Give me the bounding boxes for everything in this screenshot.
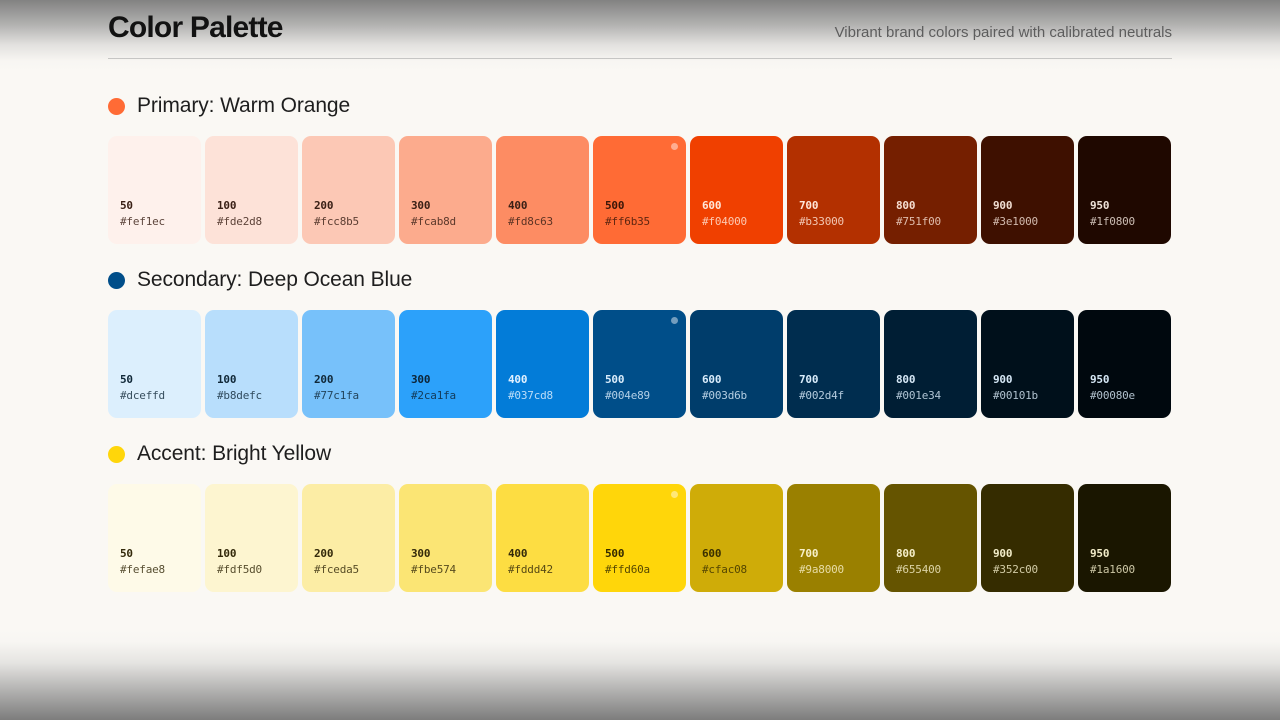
swatch-primary-950[interactable]: 950#1f0800 — [1078, 136, 1171, 244]
base-color-marker-icon — [671, 317, 678, 324]
swatch-accent-700[interactable]: 700#9a8000 — [787, 484, 880, 592]
swatch-hex-value: #cfac08 — [702, 562, 783, 578]
swatch-hex-value: #f04000 — [702, 214, 783, 230]
swatch-accent-200[interactable]: 200#fceda5 — [302, 484, 395, 592]
swatch-secondary-200[interactable]: 200#77c1fa — [302, 310, 395, 418]
swatch-hex-value: #2ca1fa — [411, 388, 492, 404]
group-header-secondary: Secondary: Deep Ocean Blue — [108, 266, 1172, 294]
swatch-step-label: 50 — [120, 198, 201, 214]
swatch-secondary-900[interactable]: 900#00101b — [981, 310, 1074, 418]
swatch-hex-value: #dceffd — [120, 388, 201, 404]
swatch-secondary-600[interactable]: 600#003d6b — [690, 310, 783, 418]
group-title: Accent: Bright Yellow — [137, 442, 331, 466]
swatch-hex-value: #b33000 — [799, 214, 880, 230]
swatch-step-label: 200 — [314, 198, 395, 214]
swatch-step-label: 600 — [702, 372, 783, 388]
color-dot-icon — [108, 272, 125, 289]
color-palette-page: Primary: Warm Orange50#fef1ec100#fde2d82… — [0, 0, 1280, 720]
swatch-step-label: 500 — [605, 546, 686, 562]
swatch-accent-900[interactable]: 900#352c00 — [981, 484, 1074, 592]
swatch-hex-value: #fcab8d — [411, 214, 492, 230]
swatch-hex-value: #001e34 — [896, 388, 977, 404]
page-subtitle: Vibrant brand colors paired with calibra… — [835, 24, 1172, 41]
swatch-hex-value: #fefae8 — [120, 562, 201, 578]
base-color-marker-icon — [671, 491, 678, 498]
page-title: Color Palette — [108, 13, 283, 43]
swatch-hex-value: #fde2d8 — [217, 214, 298, 230]
swatch-hex-value: #fd8c63 — [508, 214, 589, 230]
swatch-step-label: 700 — [799, 198, 880, 214]
palette-group-secondary: Secondary: Deep Ocean Blue50#dceffd100#b… — [108, 266, 1172, 418]
group-header-accent: Accent: Bright Yellow — [108, 440, 1172, 468]
swatch-hex-value: #ff6b35 — [605, 214, 686, 230]
swatch-secondary-700[interactable]: 700#002d4f — [787, 310, 880, 418]
swatch-hex-value: #fdf5d0 — [217, 562, 298, 578]
swatch-step-label: 700 — [799, 546, 880, 562]
swatch-hex-value: #751f00 — [896, 214, 977, 230]
swatch-hex-value: #77c1fa — [314, 388, 395, 404]
swatch-step-label: 900 — [993, 372, 1074, 388]
swatch-hex-value: #004e89 — [605, 388, 686, 404]
group-title: Primary: Warm Orange — [137, 94, 350, 118]
swatch-step-label: 600 — [702, 198, 783, 214]
swatch-hex-value: #003d6b — [702, 388, 783, 404]
swatch-hex-value: #b8defc — [217, 388, 298, 404]
swatch-primary-200[interactable]: 200#fcc8b5 — [302, 136, 395, 244]
swatch-hex-value: #fceda5 — [314, 562, 395, 578]
swatch-step-label: 800 — [896, 546, 977, 562]
swatch-accent-400[interactable]: 400#fddd42 — [496, 484, 589, 592]
swatch-accent-300[interactable]: 300#fbe574 — [399, 484, 492, 592]
swatch-step-label: 100 — [217, 198, 298, 214]
swatch-step-label: 200 — [314, 546, 395, 562]
swatch-secondary-800[interactable]: 800#001e34 — [884, 310, 977, 418]
swatch-step-label: 600 — [702, 546, 783, 562]
swatch-step-label: 400 — [508, 198, 589, 214]
swatch-hex-value: #fcc8b5 — [314, 214, 395, 230]
swatch-step-label: 500 — [605, 372, 686, 388]
swatch-hex-value: #fef1ec — [120, 214, 201, 230]
swatch-step-label: 300 — [411, 546, 492, 562]
swatch-primary-600[interactable]: 600#f04000 — [690, 136, 783, 244]
palette-group-accent: Accent: Bright Yellow50#fefae8100#fdf5d0… — [108, 440, 1172, 592]
swatch-step-label: 950 — [1090, 198, 1171, 214]
color-dot-icon — [108, 98, 125, 115]
swatch-step-label: 800 — [896, 198, 977, 214]
swatch-step-label: 100 — [217, 546, 298, 562]
swatch-hex-value: #9a8000 — [799, 562, 880, 578]
base-color-marker-icon — [671, 143, 678, 150]
swatch-hex-value: #1f0800 — [1090, 214, 1171, 230]
swatch-hex-value: #ffd60a — [605, 562, 686, 578]
swatch-primary-900[interactable]: 900#3e1000 — [981, 136, 1074, 244]
swatch-primary-500[interactable]: 500#ff6b35 — [593, 136, 686, 244]
swatch-primary-50[interactable]: 50#fef1ec — [108, 136, 201, 244]
swatch-hex-value: #352c00 — [993, 562, 1074, 578]
bottom-gradient-overlay — [0, 628, 1280, 720]
group-title: Secondary: Deep Ocean Blue — [137, 268, 412, 292]
swatch-step-label: 500 — [605, 198, 686, 214]
swatch-step-label: 950 — [1090, 546, 1171, 562]
swatch-step-label: 50 — [120, 372, 201, 388]
swatch-secondary-50[interactable]: 50#dceffd — [108, 310, 201, 418]
swatch-step-label: 900 — [993, 546, 1074, 562]
swatch-step-label: 400 — [508, 372, 589, 388]
swatch-hex-value: #fddd42 — [508, 562, 589, 578]
swatch-hex-value: #037cd8 — [508, 388, 589, 404]
swatch-hex-value: #00101b — [993, 388, 1074, 404]
group-header-primary: Primary: Warm Orange — [108, 92, 1172, 120]
swatch-accent-800[interactable]: 800#655400 — [884, 484, 977, 592]
swatch-row-primary: 50#fef1ec100#fde2d8200#fcc8b5300#fcab8d4… — [108, 136, 1172, 244]
swatch-secondary-100[interactable]: 100#b8defc — [205, 310, 298, 418]
palette-content: Primary: Warm Orange50#fef1ec100#fde2d82… — [0, 0, 1280, 614]
swatch-primary-100[interactable]: 100#fde2d8 — [205, 136, 298, 244]
swatch-step-label: 800 — [896, 372, 977, 388]
swatch-step-label: 700 — [799, 372, 880, 388]
swatch-secondary-950[interactable]: 950#00080e — [1078, 310, 1171, 418]
swatch-hex-value: #1a1600 — [1090, 562, 1171, 578]
swatch-row-secondary: 50#dceffd100#b8defc200#77c1fa300#2ca1fa4… — [108, 310, 1172, 418]
swatch-step-label: 900 — [993, 198, 1074, 214]
swatch-secondary-300[interactable]: 300#2ca1fa — [399, 310, 492, 418]
page-header: Color Palette Vibrant brand colors paire… — [0, 0, 1280, 62]
swatch-step-label: 100 — [217, 372, 298, 388]
swatch-secondary-500[interactable]: 500#004e89 — [593, 310, 686, 418]
swatch-accent-600[interactable]: 600#cfac08 — [690, 484, 783, 592]
swatch-step-label: 400 — [508, 546, 589, 562]
swatch-accent-950[interactable]: 950#1a1600 — [1078, 484, 1171, 592]
swatch-row-accent: 50#fefae8100#fdf5d0200#fceda5300#fbe5744… — [108, 484, 1172, 592]
swatch-step-label: 950 — [1090, 372, 1171, 388]
swatch-hex-value: #fbe574 — [411, 562, 492, 578]
swatch-accent-50[interactable]: 50#fefae8 — [108, 484, 201, 592]
swatch-step-label: 50 — [120, 546, 201, 562]
swatch-accent-500[interactable]: 500#ffd60a — [593, 484, 686, 592]
swatch-primary-700[interactable]: 700#b33000 — [787, 136, 880, 244]
swatch-hex-value: #655400 — [896, 562, 977, 578]
swatch-primary-800[interactable]: 800#751f00 — [884, 136, 977, 244]
swatch-step-label: 300 — [411, 198, 492, 214]
color-dot-icon — [108, 446, 125, 463]
swatch-hex-value: #002d4f — [799, 388, 880, 404]
swatch-primary-300[interactable]: 300#fcab8d — [399, 136, 492, 244]
swatch-step-label: 200 — [314, 372, 395, 388]
swatch-accent-100[interactable]: 100#fdf5d0 — [205, 484, 298, 592]
swatch-hex-value: #3e1000 — [993, 214, 1074, 230]
header-divider — [108, 58, 1172, 59]
swatch-primary-400[interactable]: 400#fd8c63 — [496, 136, 589, 244]
swatch-hex-value: #00080e — [1090, 388, 1171, 404]
palette-group-primary: Primary: Warm Orange50#fef1ec100#fde2d82… — [108, 92, 1172, 244]
swatch-step-label: 300 — [411, 372, 492, 388]
swatch-secondary-400[interactable]: 400#037cd8 — [496, 310, 589, 418]
